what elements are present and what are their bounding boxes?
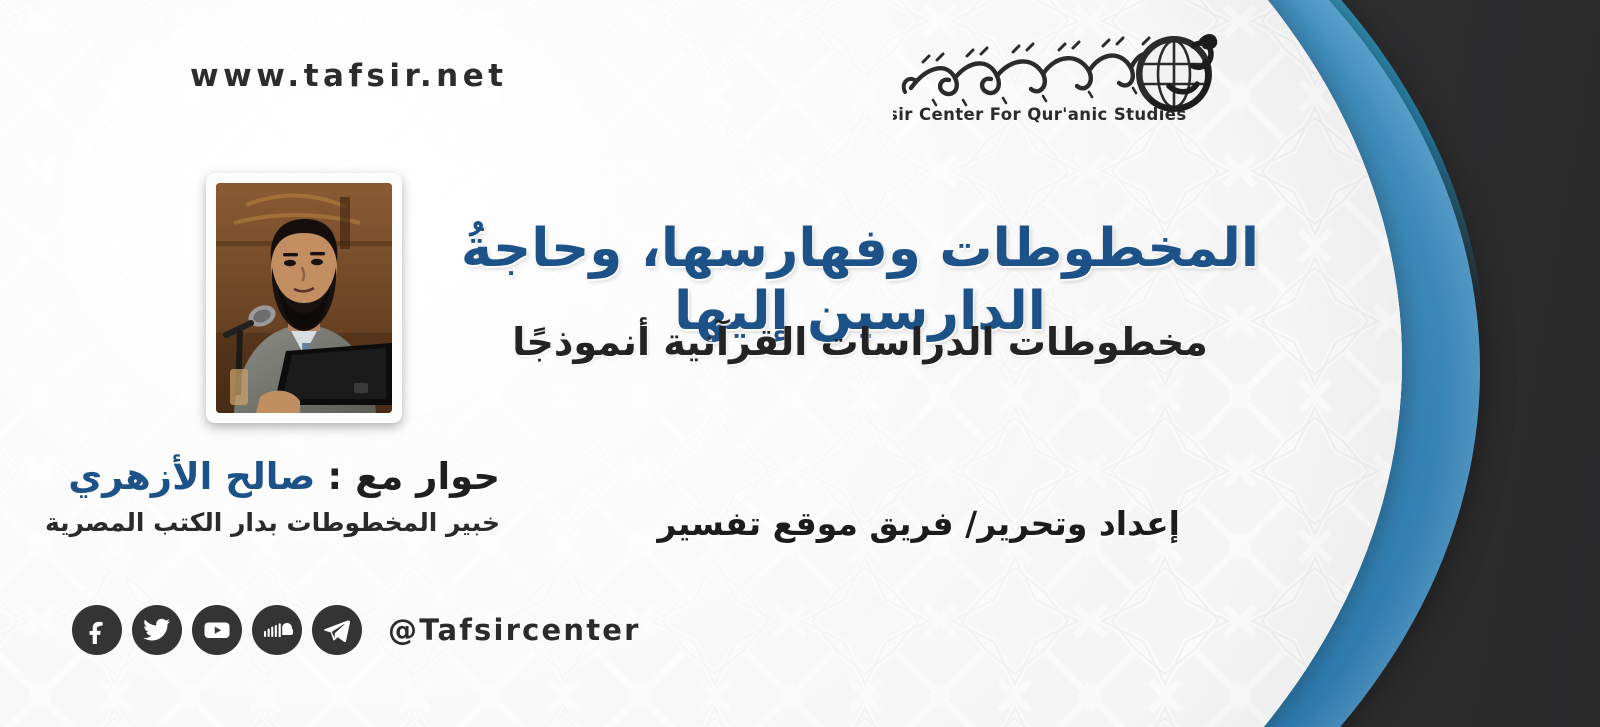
youtube-icon[interactable] [192,605,242,655]
editorial-credit: إعداد وتحرير/ فريق موقع تفسير [740,504,1180,543]
telegram-icon[interactable] [312,605,362,655]
speaker-photo [216,183,392,413]
banner-content: www.tafsir.net Tafsir Center [0,0,1600,727]
globe-icon [1136,34,1217,112]
interview-label: حوار مع : [327,455,500,498]
speaker-photo-frame [206,173,402,423]
interview-line: حوار مع :صالح الأزهري [110,455,500,498]
website-url[interactable]: www.tafsir.net [190,58,508,94]
promo-banner: www.tafsir.net Tafsir Center [0,0,1600,727]
logo-arabic-calligraphy [904,38,1175,105]
page-subtitle: مخطوطات الدراسات القرآنية أنموذجًا [415,320,1305,364]
guest-role: خبير المخطوطات بدار الكتب المصرية [110,508,500,537]
social-handle[interactable]: @Tafsircenter [388,613,641,647]
facebook-icon[interactable] [72,605,122,655]
social-bar: @Tafsircenter [72,605,641,655]
soundcloud-icon[interactable] [252,605,302,655]
guest-name: صالح الأزهري [68,455,315,498]
tafsir-center-logo[interactable]: Tafsir Center For Qur'anic Studies [893,26,1223,131]
logo-english-text: Tafsir Center For Qur'anic Studies [893,105,1187,124]
twitter-icon[interactable] [132,605,182,655]
